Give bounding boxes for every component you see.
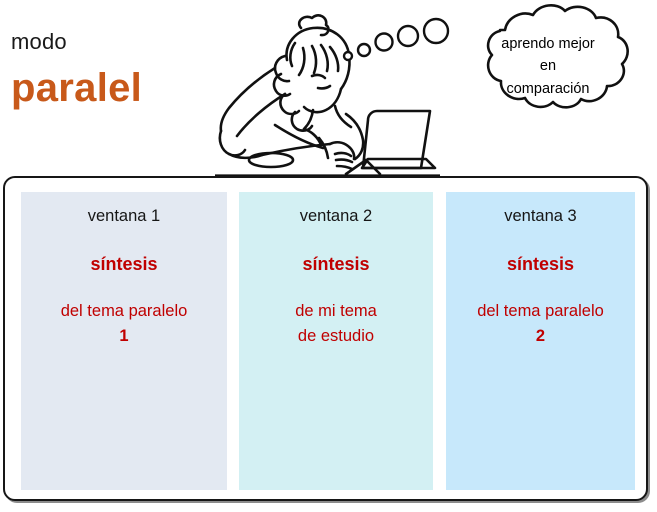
window-column-1: ventana 1 síntesis del tema paralelo 1 bbox=[21, 208, 227, 350]
window-label-3: ventana 3 bbox=[446, 208, 635, 225]
synthesis-label-2: síntesis bbox=[239, 255, 433, 273]
thought-bubble-text: aprendo mejor en comparación bbox=[462, 33, 634, 100]
thought-line-2: en bbox=[462, 55, 634, 77]
window-detail-3-line-1: del tema paralelo bbox=[446, 299, 635, 325]
window-detail-2: de mi tema de estudio bbox=[239, 299, 433, 350]
window-detail-2-line-1: de mi tema bbox=[239, 299, 433, 325]
synthesis-label-1: síntesis bbox=[21, 255, 227, 273]
thought-line-1: aprendo mejor bbox=[462, 33, 634, 55]
window-detail-1: del tema paralelo 1 bbox=[21, 299, 227, 350]
thought-line-3: comparación bbox=[462, 78, 634, 100]
diagram-canvas: modo paralel bbox=[0, 0, 657, 512]
window-column-3: ventana 3 síntesis del tema paralelo 2 bbox=[446, 208, 635, 350]
window-detail-1-line-2: 1 bbox=[21, 324, 227, 350]
window-detail-1-line-1: del tema paralelo bbox=[21, 299, 227, 325]
window-label-2: ventana 2 bbox=[239, 208, 433, 225]
window-detail-2-line-2: de estudio bbox=[239, 324, 433, 350]
synthesis-label-3: síntesis bbox=[446, 255, 635, 273]
parallel-mode-panel: ventana 1 síntesis del tema paralelo 1 v… bbox=[3, 176, 648, 501]
window-label-1: ventana 1 bbox=[21, 208, 227, 225]
page-title-prefix: modo bbox=[11, 31, 67, 53]
window-detail-3-line-2: 2 bbox=[446, 324, 635, 350]
page-title-main: paralel bbox=[11, 68, 142, 108]
window-detail-3: del tema paralelo 2 bbox=[446, 299, 635, 350]
header-area: modo paralel bbox=[0, 0, 657, 176]
window-column-2: ventana 2 síntesis de mi tema de estudio bbox=[239, 208, 433, 350]
